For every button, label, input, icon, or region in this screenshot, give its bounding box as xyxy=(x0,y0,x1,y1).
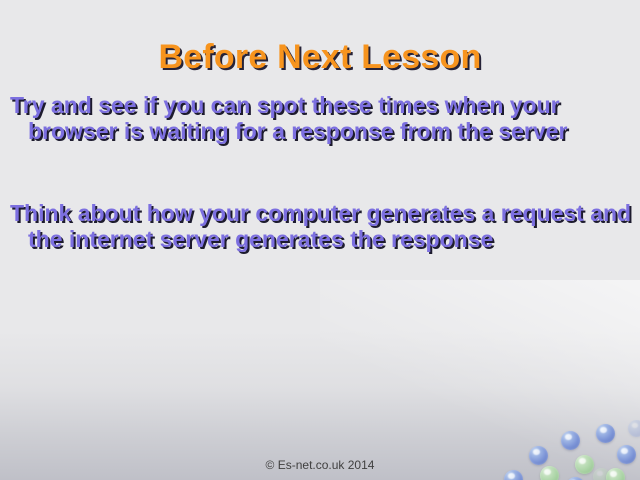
body-paragraph-2: Think about how your computer generates … xyxy=(10,200,640,252)
slide-canvas: Before Next Lesson Try and see if you ca… xyxy=(0,0,640,480)
copyright-footer: © Es-net.co.uk 2014 xyxy=(0,458,640,472)
body-paragraph-1: Try and see if you can spot these times … xyxy=(10,92,640,144)
page-title: Before Next Lesson xyxy=(0,38,640,77)
slide-body: Try and see if you can spot these times … xyxy=(10,92,640,252)
